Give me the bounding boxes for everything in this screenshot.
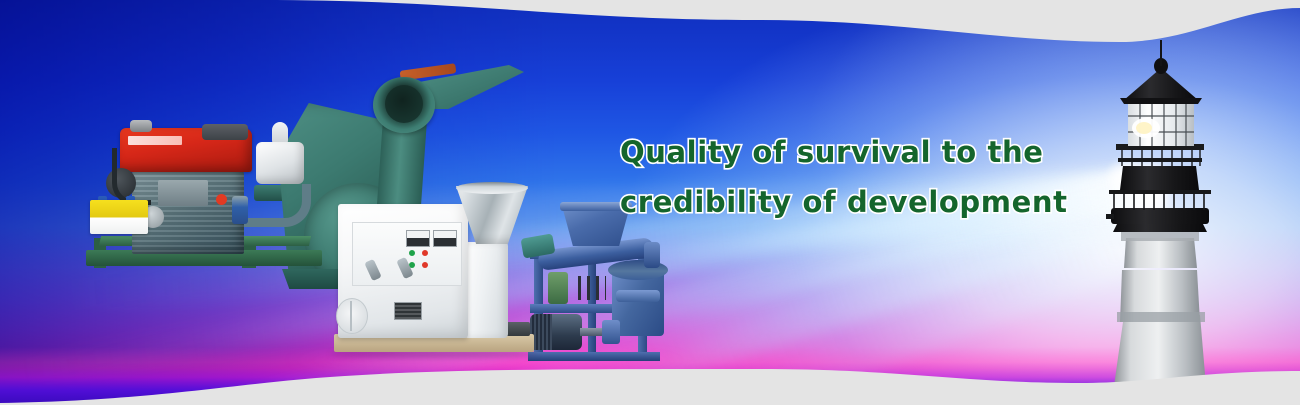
headline: Quality of survival to the credibility o… [620, 127, 1090, 227]
headline-line-2: credibility of development [620, 177, 1090, 227]
promo-banner: Quality of survival to the credibility o… [0, 0, 1300, 405]
headline-line-1: Quality of survival to the [620, 127, 1090, 177]
diesel-engine [84, 110, 334, 300]
white-pellet-mill [330, 182, 540, 367]
